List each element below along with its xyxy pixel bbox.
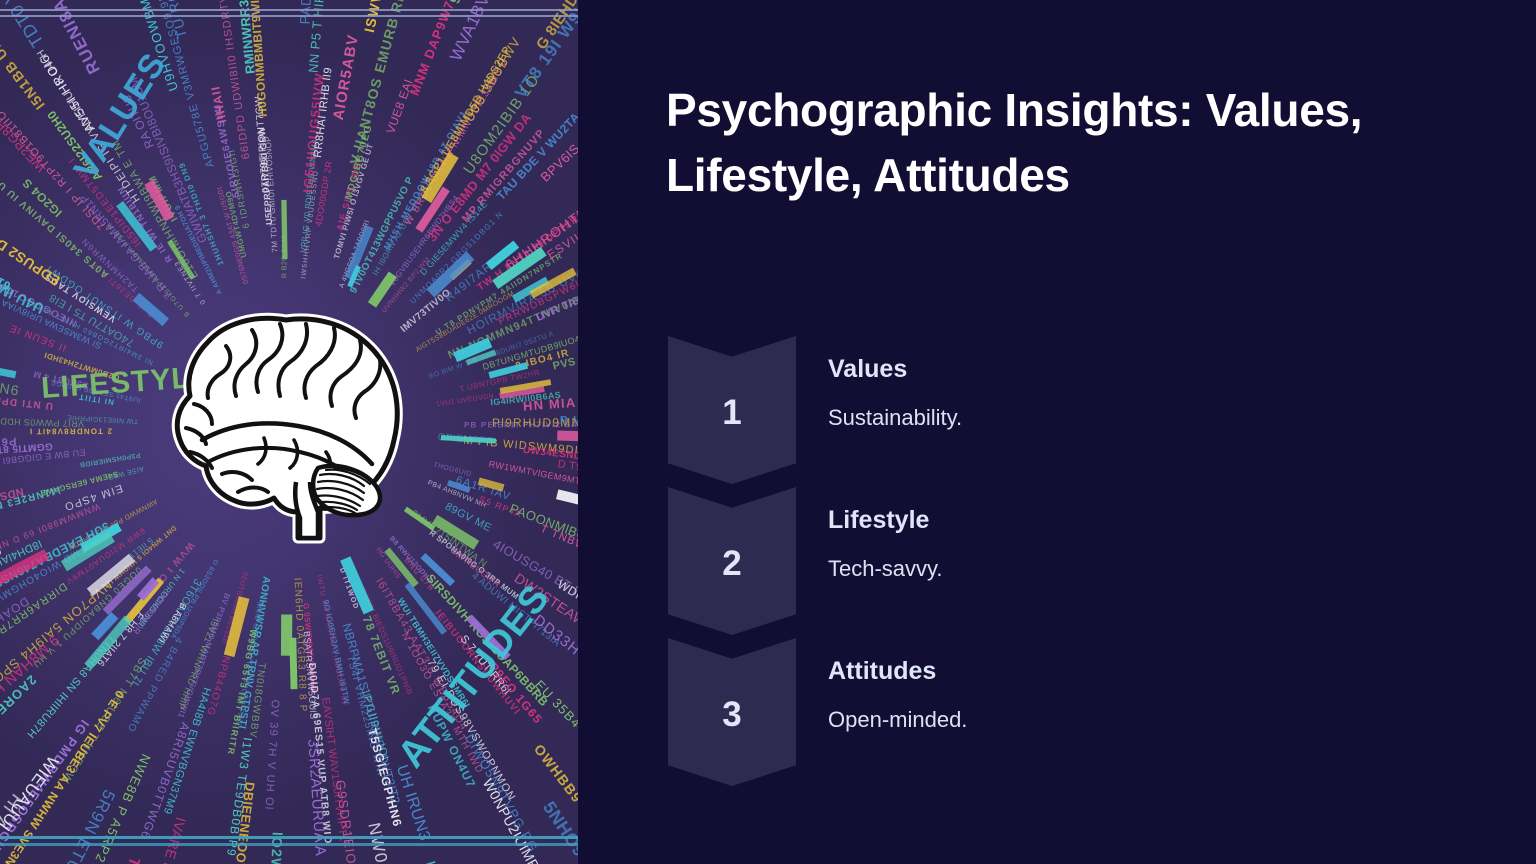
svg-text:IVARE 8PS RD9RB9VD3: IVARE 8PS RD9RB9VD3 — [128, 815, 189, 864]
svg-text:9WWDHPGA7UO 2BWD TSWl5: 9WWDHPGA7UO 2BWD TSWl5 — [446, 0, 547, 6]
step-heading: Attitudes — [828, 656, 1428, 686]
svg-text:lIUl TU: lIUl TU — [418, 859, 454, 864]
chevron-badge: 3 — [668, 638, 796, 786]
svg-text:P3P0HSMIERIDB: P3P0HSMIERIDB — [79, 451, 141, 468]
step-number: 2 — [668, 544, 796, 584]
svg-text:I5N1BB UA: I5N1BB UA — [0, 35, 48, 112]
svg-text:AIOR5ABV: AIOR5ABV — [330, 33, 362, 122]
steps-list: 1 Values Sustainability. 2 Lifestyle Tec… — [660, 330, 1460, 783]
svg-text:SHMW HNWI US: SHMW HNWI US — [84, 0, 140, 2]
step-number: 1 — [668, 393, 796, 433]
svg-text:IIHAII: IIHAII — [208, 84, 229, 124]
page-title: Psychographic Insights: Values, Lifestyl… — [666, 78, 1456, 209]
svg-text:OV 39 7H V UH Ol: OV 39 7H V UH Ol — [262, 699, 281, 810]
chevron-badge: 1 — [668, 336, 796, 484]
svg-text:9O IG0EH2AV BMH I93TW: 9O IG0EH2AV BMH I93TW — [321, 599, 351, 705]
svg-text:5NHO9DlEIII5S9GHW: 5NHO9DlEIII5S9GHW — [539, 798, 578, 864]
svg-text:NPB44O7G: NPB44O7G — [204, 654, 232, 717]
step-heading: Lifestyle — [828, 505, 1428, 535]
brain-wordcloud-illustration: GPIEMRPTTHOG6UIDPB4 AH8NVW MH2MVB215INTW… — [0, 0, 578, 864]
step-heading: Values — [828, 354, 1428, 384]
brain-icon — [168, 312, 408, 544]
chevron-badge: 2 — [668, 487, 796, 635]
step-body: Open-minded. — [828, 706, 1428, 735]
svg-text:lO2W HV0B 7H 1 R EEIPOURT B: lO2W HV0B 7H 1 R EEIPOURT B — [260, 832, 285, 864]
step-number: 3 — [668, 695, 796, 735]
list-item[interactable]: 1 Values Sustainability. — [660, 330, 1460, 481]
list-item[interactable]: 3 Attitudes Open-minded. — [660, 632, 1460, 783]
step-text: Attitudes Open-minded. — [828, 656, 1428, 735]
slide: GPIEMRPTTHOG6UIDPB4 AH8NVW MH2MVB215INTW… — [0, 0, 1536, 864]
step-body: Sustainability. — [828, 404, 1428, 433]
step-text: Lifestyle Tech-savvy. — [828, 505, 1428, 584]
step-text: Values Sustainability. — [828, 354, 1428, 433]
content-panel: Psychographic Insights: Values, Lifestyl… — [578, 0, 1536, 864]
list-item[interactable]: 2 Lifestyle Tech-savvy. — [660, 481, 1460, 632]
svg-text:TDT0 VMW: TDT0 VMW — [0, 0, 48, 51]
svg-text:1VU1 UVEUVDN: 1VU1 UVEUVDN — [436, 393, 495, 408]
svg-text:R VWOROW NO9MA: R VWOROW NO9MA — [560, 413, 578, 427]
step-body: Tech-savvy. — [828, 555, 1428, 584]
